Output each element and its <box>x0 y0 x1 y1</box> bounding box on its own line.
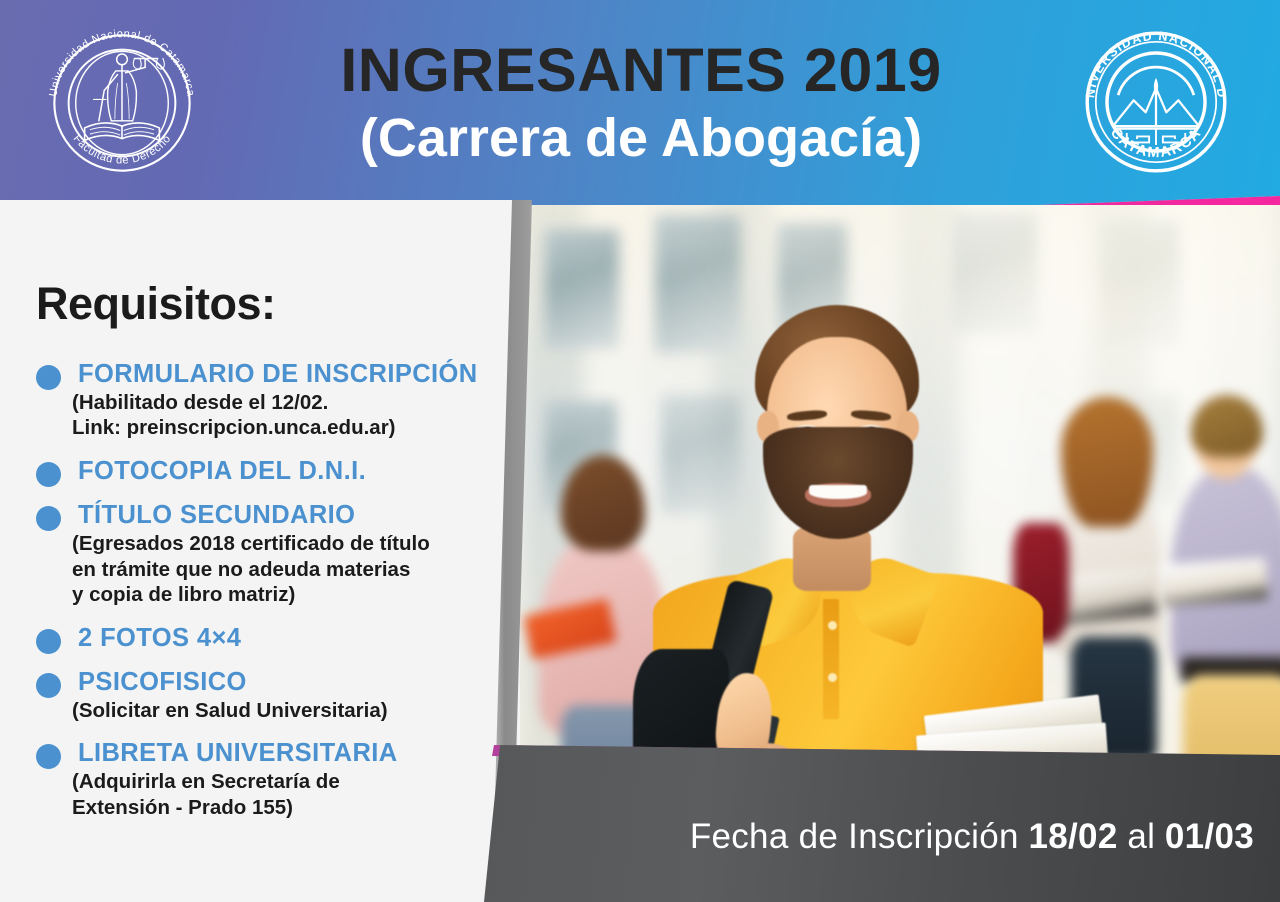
requisito-note: (Egresados 2018 certificado de título en… <box>72 531 506 608</box>
requisito-title: FORMULARIO DE INSCRIPCIÓN <box>78 360 506 389</box>
requisito-titulo-secundario: TÍTULO SECUNDARIO (Egresados 2018 certif… <box>36 501 506 607</box>
bullet-icon <box>36 365 61 390</box>
requisito-title: TÍTULO SECUNDARIO <box>78 501 506 530</box>
inscription-date-connector: al <box>1127 817 1155 856</box>
requisito-title: PSICOFISICO <box>78 668 506 697</box>
poster-title-block: INGRESANTES 2019 (Carrera de Abogacía) <box>236 38 1046 168</box>
bullet-icon <box>36 629 61 654</box>
bullet-icon <box>36 462 61 487</box>
requisito-formulario-de-inscripcion: FORMULARIO DE INSCRIPCIÓN (Habilitado de… <box>36 360 506 441</box>
requisitos-panel: Requisitos: FORMULARIO DE INSCRIPCIÓN (H… <box>0 200 520 902</box>
requisito-fotocopia-del-dni: FOTOCOPIA DEL D.N.I. <box>36 457 506 486</box>
student-shirt-button <box>828 673 837 682</box>
requisitos-heading: Requisitos: <box>36 278 506 330</box>
bullet-icon <box>36 506 61 531</box>
poster-title: INGRESANTES 2019 <box>236 38 1046 104</box>
inscription-date-to: 01/03 <box>1165 817 1254 856</box>
student-photo <box>505 205 1280 760</box>
requisito-title: 2 FOTOS 4×4 <box>78 624 506 653</box>
facultad-de-derecho-seal-icon: Universidad Nacional de Catamarca Facult… <box>33 14 211 192</box>
universidad-nacional-de-catamarca-seal-icon: UNIVERSIDAD NACIONAL DE CATAMARCA <box>1070 16 1242 188</box>
background-student-legs <box>1183 675 1280 760</box>
requisito-note: (Solicitar en Salud Universitaria) <box>72 698 506 724</box>
requisito-title: FOTOCOPIA DEL D.N.I. <box>78 457 506 486</box>
requisito-libreta-universitaria: LIBRETA UNIVERSITARIA (Adquirirla en Sec… <box>36 739 506 820</box>
requisitos-list: FORMULARIO DE INSCRIPCIÓN (Habilitado de… <box>36 360 506 820</box>
poster-root: Universidad Nacional de Catamarca Facult… <box>0 0 1280 902</box>
requisito-2-fotos-4x4: 2 FOTOS 4×4 <box>36 624 506 653</box>
inscription-date-from: 18/02 <box>1029 817 1118 856</box>
student-backpack <box>633 649 729 760</box>
student-shirt-button <box>828 621 837 630</box>
bullet-icon <box>36 673 61 698</box>
requisito-note: (Adquirirla en Secretaría de Extensión -… <box>72 769 506 820</box>
requisito-note: (Habilitado desde el 12/02. Link: preins… <box>72 390 506 441</box>
footer-bar: Fecha de Inscripción 18/02 al 01/03 <box>484 745 1280 902</box>
background-student-book <box>1160 557 1269 606</box>
svg-text:UNIVERSIDAD NACIONAL DE: UNIVERSIDAD NACIONAL DE <box>1070 16 1229 99</box>
bullet-icon <box>36 744 61 769</box>
background-student-hair <box>1061 397 1153 527</box>
student-placket <box>823 599 839 719</box>
inscription-date-label: Fecha de Inscripción <box>690 817 1019 856</box>
requisito-psicofisico: PSICOFISICO (Solicitar en Salud Universi… <box>36 668 506 723</box>
poster-subtitle: (Carrera de Abogacía) <box>236 108 1046 168</box>
inscription-date-line: Fecha de Inscripción 18/02 al 01/03 <box>484 819 1254 854</box>
requisito-title: LIBRETA UNIVERSITARIA <box>78 739 506 768</box>
student-teeth <box>809 485 867 499</box>
